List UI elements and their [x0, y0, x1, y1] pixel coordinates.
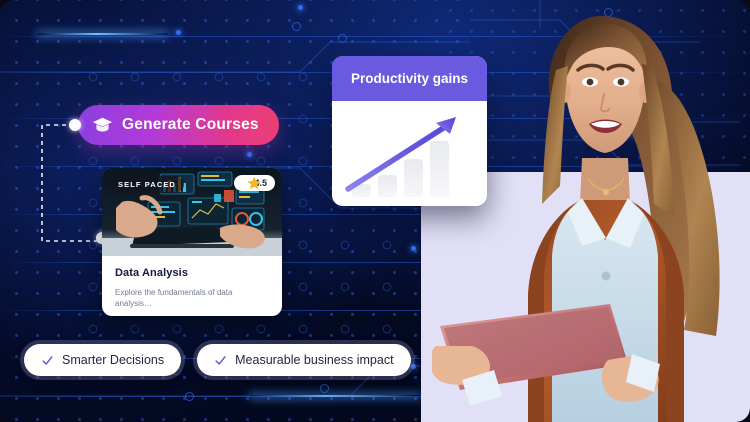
chip-measurable-business-impact[interactable]: Measurable business impact	[197, 344, 410, 376]
chip-label: Measurable business impact	[235, 353, 393, 367]
productivity-chart	[332, 101, 487, 206]
productivity-card-header: Productivity gains	[332, 56, 487, 101]
productivity-card-title: Productivity gains	[351, 71, 468, 86]
check-icon	[41, 354, 54, 367]
generate-courses-pill[interactable]: Generate Courses	[78, 105, 279, 145]
chip-smarter-decisions[interactable]: Smarter Decisions	[24, 344, 181, 376]
rating-badge: 4.5	[234, 175, 275, 191]
course-title: Data Analysis	[115, 267, 269, 279]
chip-label: Smarter Decisions	[62, 353, 164, 367]
hero-banner: Generate Courses	[0, 0, 750, 422]
course-card[interactable]: SELF PACED 4.5 Data Analysis Explore the…	[102, 168, 282, 316]
feature-chips: Smarter Decisions Measurable business im…	[24, 344, 411, 376]
star-icon	[239, 178, 250, 189]
check-icon	[214, 354, 227, 367]
course-thumbnail: SELF PACED 4.5	[102, 168, 282, 256]
self-paced-badge: SELF PACED	[110, 176, 184, 193]
generate-courses-label: Generate Courses	[122, 116, 259, 134]
course-description: Explore the fundamentals of data analysi…	[115, 288, 269, 310]
chart-bars	[352, 141, 449, 197]
course-card-body: Data Analysis Explore the fundamentals o…	[102, 256, 282, 310]
graduation-cap-icon	[92, 116, 113, 134]
pill-anchor-dot	[69, 119, 81, 131]
productivity-gains-card[interactable]: Productivity gains	[332, 56, 487, 206]
